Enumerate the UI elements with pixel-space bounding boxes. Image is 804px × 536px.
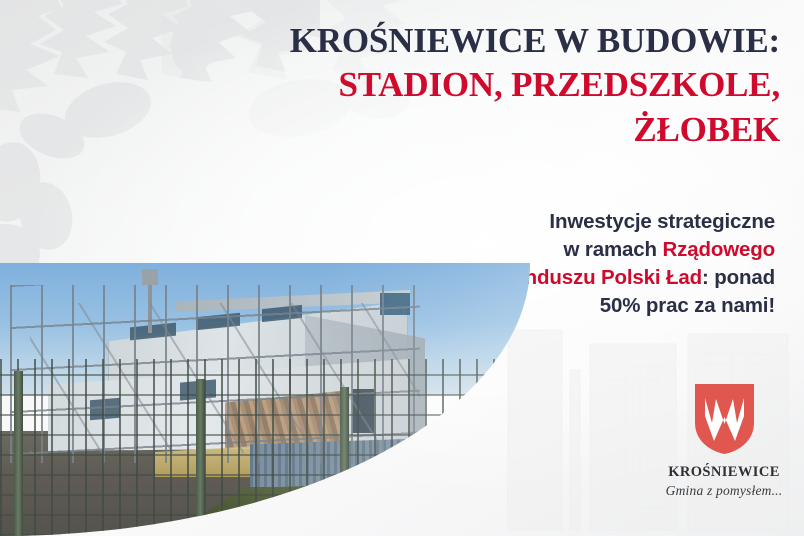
municipality-logo: KROŚNIEWICE Gmina z pomysłem... [650,383,798,499]
logo-name: KROŚNIEWICE [650,464,798,481]
headline-line-3: ŻŁOBEK [180,111,780,148]
headline-line-1: KROŚNIEWICE W BUDOWIE: [180,22,780,59]
photo-edge-haze [0,263,560,536]
subheadline-part-4: 50% prac za nami! [600,294,775,317]
subheadline-part-1: Inwestycje strategiczne [549,210,775,233]
shield-with-white-w-icon [694,383,755,455]
subheadline-part-3: : ponad [702,266,775,289]
headline-line-2: STADION, PRZEDSZKOLE, [180,66,780,103]
construction-photo [0,263,560,536]
poster-canvas: KROŚNIEWICE W BUDOWIE: STADION, PRZEDSZK… [0,0,804,536]
photo-ellipse-clip [0,263,560,536]
logo-tagline: Gmina z pomysłem... [650,483,798,499]
photo-content [0,263,560,536]
page-title: KROŚNIEWICE W BUDOWIE: STADION, PRZEDSZK… [180,22,780,148]
subheadline-accent-1: Rządowego [662,238,775,261]
subheadline-part-2: w ramach [564,238,663,261]
